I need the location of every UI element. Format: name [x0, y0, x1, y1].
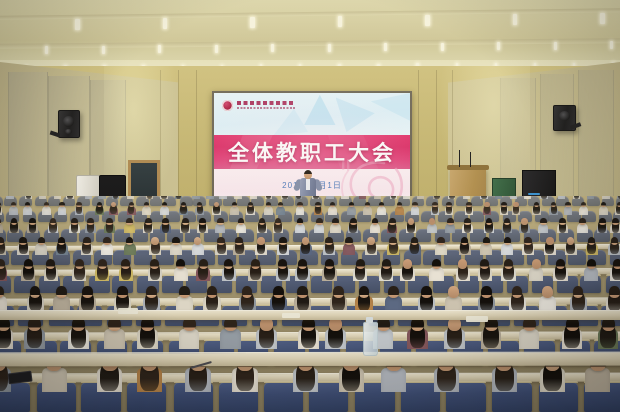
audience-head: [162, 218, 169, 225]
audience-torso: [9, 206, 18, 214]
audience-hair: [481, 196, 487, 199]
audience-head: [556, 259, 565, 269]
audience-head: [207, 286, 218, 298]
audience-head: [76, 202, 81, 208]
audience-head: [297, 218, 304, 225]
audience-head: [199, 259, 208, 269]
audience-head: [408, 218, 415, 225]
audience-head: [50, 218, 57, 225]
audience-member: [343, 237, 355, 257]
audience-head: [56, 286, 67, 298]
audience-member: [565, 237, 577, 257]
audience-member: [276, 202, 285, 216]
presenter-shirt: [306, 179, 310, 190]
audience-head: [59, 202, 64, 208]
audience-member: [192, 196, 200, 200]
audience-torso: [395, 206, 404, 214]
audience-torso: [599, 206, 608, 214]
audience-torso: [510, 196, 517, 199]
audience-torso: [480, 243, 492, 255]
audience-head: [565, 202, 570, 208]
audience-member: [587, 196, 595, 200]
audience-head: [458, 259, 467, 269]
audience-head: [559, 218, 566, 225]
audience-hair: [26, 196, 32, 199]
ceiling-downlight: [384, 43, 387, 51]
audience-member: [295, 259, 310, 283]
audience-head: [611, 237, 619, 245]
microphone-stand: [470, 152, 471, 167]
audience-member: [48, 218, 59, 235]
audience-torso: [429, 267, 443, 281]
audience-head: [297, 286, 308, 298]
audience-torso: [39, 196, 46, 199]
audience-head: [199, 218, 206, 225]
audience-member: [495, 196, 503, 200]
audience-head: [235, 237, 243, 245]
audience-torso: [236, 223, 246, 233]
audience-member: [608, 237, 620, 257]
audience-head: [217, 218, 224, 225]
audience-head: [297, 202, 302, 208]
audience-member: [234, 196, 242, 200]
audience-head: [412, 202, 417, 208]
audience-head: [11, 218, 18, 225]
audience-member: [584, 259, 599, 283]
audience-member: [21, 259, 36, 283]
audience-member: [519, 317, 540, 351]
audience-head: [446, 202, 451, 208]
audience-member: [510, 196, 518, 200]
audience-member: [68, 317, 89, 351]
audience-member: [175, 196, 183, 200]
audience-torso: [192, 243, 204, 255]
audience-head: [372, 218, 379, 225]
audience-member: [519, 218, 530, 235]
audience-torso: [330, 223, 340, 233]
audience-head: [464, 218, 471, 225]
ceiling-downlight: [554, 42, 557, 50]
audience-member: [465, 202, 474, 216]
audience-member: [222, 259, 237, 283]
audience-member: [281, 196, 289, 200]
audience-member: [95, 259, 110, 283]
audience-head: [238, 218, 245, 225]
audience-member: [400, 259, 415, 283]
ceiling-downlight: [75, 19, 80, 30]
audience-torso: [359, 196, 366, 199]
audience-torso: [58, 206, 67, 214]
audience-member: [500, 202, 509, 216]
audience-head: [613, 259, 620, 269]
audience-member: [602, 196, 610, 200]
audience-member: [363, 202, 372, 216]
audience-member: [564, 202, 573, 216]
slide-polygon: [273, 109, 308, 137]
audience-member: [501, 237, 513, 257]
audience-member: [598, 317, 619, 351]
audience-torso: [234, 196, 241, 199]
audience-member: [265, 196, 273, 200]
audience-head: [150, 259, 159, 269]
audience-head: [447, 218, 454, 225]
audience-hair: [541, 196, 547, 199]
audience-member: [127, 202, 136, 216]
audience-member: [597, 218, 608, 235]
audience-member: [562, 317, 583, 351]
audience-head: [612, 218, 619, 225]
audience-head: [275, 218, 282, 225]
audience-head: [172, 237, 180, 245]
audience-member: [532, 202, 541, 216]
audience-head: [30, 286, 41, 298]
audience-member: [246, 202, 255, 216]
audience-hair: [434, 196, 440, 199]
ceiling-downlight: [250, 17, 255, 28]
audience-hair: [574, 196, 580, 199]
audience-member: [195, 202, 204, 216]
audience-member: [42, 202, 51, 216]
audience-member: [322, 259, 337, 283]
audience-torso: [495, 196, 502, 199]
audience-member: [599, 202, 608, 216]
audience-member: [445, 218, 456, 235]
audience-head: [501, 202, 506, 208]
audience-torso: [347, 206, 356, 214]
audience-member: [119, 259, 134, 283]
audience-head: [126, 218, 133, 225]
audience-head: [332, 218, 339, 225]
audience-head: [389, 237, 397, 245]
audience-member: [522, 237, 534, 257]
audience-head: [587, 259, 596, 269]
audience-head: [521, 218, 528, 225]
audience-head: [325, 237, 333, 245]
water-bottle: [363, 322, 378, 356]
audience-member: [85, 196, 93, 200]
audience-member: [9, 202, 18, 216]
audience-member: [411, 202, 420, 216]
audience-head: [532, 259, 541, 269]
audience-member: [112, 196, 120, 200]
audience-torso: [250, 196, 257, 199]
audience-member: [230, 202, 239, 216]
audience-head: [325, 259, 334, 269]
audience-torso: [215, 223, 225, 233]
audience-torso: [579, 206, 588, 214]
bottle-cap: [366, 317, 373, 323]
ceiling-downlight: [102, 46, 105, 54]
audience-torso: [584, 267, 598, 281]
audience-member: [387, 218, 398, 235]
audience-head: [546, 237, 554, 245]
audience-member: [277, 237, 289, 257]
audience-member: [445, 202, 454, 216]
audience-head: [437, 237, 445, 245]
audience-head: [356, 259, 365, 269]
audience-torso: [192, 196, 199, 199]
audience-torso: [524, 196, 531, 199]
audience-head: [524, 237, 532, 245]
audience-torso: [124, 223, 134, 233]
audience-torso: [564, 206, 573, 214]
audience-head: [182, 218, 189, 225]
audience-head: [365, 202, 370, 208]
audience-head: [359, 286, 370, 298]
audience-head: [573, 286, 584, 298]
audience-hair: [282, 196, 288, 199]
audience-member: [0, 317, 14, 351]
ceiling-downlight: [497, 42, 500, 50]
audience-head: [512, 286, 523, 298]
ceiling-downlight: [158, 45, 161, 53]
audience-member: [298, 317, 319, 351]
audience-member: [148, 259, 163, 283]
audience-torso: [42, 206, 51, 214]
microphone-stand: [459, 150, 460, 167]
audience-torso: [529, 267, 543, 281]
audience-member: [143, 218, 154, 235]
audience-member: [557, 218, 568, 235]
audience-member: [406, 218, 417, 235]
audience-torso: [558, 196, 565, 199]
audience-torso: [403, 196, 410, 199]
audience-member: [353, 259, 368, 283]
audience-head: [0, 259, 5, 269]
audience-member: [127, 196, 135, 200]
ceiling-downlight: [328, 44, 331, 52]
audience-head: [46, 259, 55, 269]
audience-member: [444, 317, 465, 351]
audience-torso: [374, 196, 381, 199]
audience-torso: [101, 243, 113, 255]
audience-member: [196, 259, 211, 283]
audience-head: [98, 259, 107, 269]
audience-member: [295, 196, 303, 200]
audience-member: [179, 317, 200, 351]
audience-torso: [328, 206, 337, 214]
audience-head: [146, 286, 157, 298]
left-loudspeaker: [58, 110, 80, 138]
slide-polygon: [336, 97, 375, 132]
audience-torso: [179, 329, 200, 349]
audience-torso: [296, 206, 305, 214]
audience-torso: [326, 196, 333, 199]
audience-member: [236, 218, 247, 235]
audience-member: [459, 237, 471, 257]
audience-torso: [314, 223, 324, 233]
audience-member: [348, 218, 359, 235]
audience-member: [27, 218, 38, 235]
audience-member: [558, 196, 566, 200]
audience-torso: [42, 368, 67, 392]
ceiling-downlight: [425, 15, 430, 26]
audience-head: [403, 259, 412, 269]
audience-hair: [161, 196, 167, 199]
audience-head: [232, 202, 237, 208]
audience-member: [314, 202, 323, 216]
audience-member: [435, 237, 447, 257]
audience-member: [341, 196, 349, 200]
audience-member: [6, 196, 14, 200]
audience-member: [146, 196, 154, 200]
audience-member: [409, 237, 421, 257]
ceiling-downlight: [271, 44, 274, 52]
audience-member: [257, 218, 268, 235]
audience-torso: [98, 196, 105, 199]
audience-head: [429, 218, 436, 225]
audience-head: [117, 286, 128, 298]
audience-member: [431, 202, 440, 216]
audience-head: [316, 218, 323, 225]
foreground-desk: [0, 310, 620, 320]
audience-member: [219, 196, 227, 200]
audience-head: [513, 202, 518, 208]
audience-head: [298, 259, 307, 269]
slide-top-section: [214, 93, 410, 136]
audience-member: [553, 259, 568, 283]
audience-torso: [6, 196, 13, 199]
audience-member: [212, 202, 221, 216]
audience-torso: [538, 223, 548, 233]
audience-member: [610, 259, 620, 283]
audience-head: [609, 286, 620, 298]
audience-head: [129, 202, 134, 208]
audience-member: [75, 202, 84, 216]
audience-torso: [295, 223, 305, 233]
audience-head: [481, 286, 492, 298]
audience-head: [259, 218, 266, 225]
audience-torso: [445, 223, 455, 233]
audience-member: [250, 196, 258, 200]
audience-torso: [276, 206, 285, 214]
audience-member: [160, 202, 169, 216]
audience-torso: [370, 223, 380, 233]
audience-torso: [585, 368, 610, 392]
audience-head: [145, 218, 152, 225]
audience-member: [480, 196, 488, 200]
rack-indicator-light: [528, 193, 540, 195]
audience-member: [54, 196, 62, 200]
audience-head: [19, 237, 27, 245]
audience-head: [151, 237, 159, 245]
audience-member: [160, 218, 171, 235]
audience-member: [0, 259, 7, 283]
speaker-cone-icon: [559, 111, 570, 121]
audience-member: [137, 317, 158, 351]
audience-member: [109, 202, 118, 216]
audience-head: [278, 259, 287, 269]
audience-member: [233, 237, 245, 257]
speaker-cone-icon: [63, 116, 74, 127]
audience-head: [179, 286, 190, 298]
ceiling-downlight: [513, 14, 518, 25]
audience-head: [389, 218, 396, 225]
audience-hair: [313, 196, 319, 199]
audience-head: [388, 286, 399, 298]
audience-member: [407, 317, 428, 351]
audience-torso: [170, 243, 182, 255]
audience-member: [180, 218, 191, 235]
audience-member: [456, 259, 471, 283]
audience-torso: [85, 196, 92, 199]
speaker-tweeter-icon: [65, 129, 72, 134]
papers: [466, 316, 488, 322]
logo-english-text: [237, 107, 295, 109]
audience-member: [206, 196, 214, 200]
audience-torso: [160, 206, 169, 214]
audience-head: [251, 259, 260, 269]
audience-head: [224, 259, 233, 269]
audience-member: [220, 317, 241, 351]
audience-member: [484, 218, 495, 235]
audience-member: [480, 237, 492, 257]
audience-torso: [577, 223, 587, 233]
audience-member: [104, 317, 125, 351]
ceiling-downlight: [610, 41, 613, 49]
audience-head: [567, 237, 575, 245]
audience-head: [194, 237, 202, 245]
audience-member: [390, 196, 398, 200]
audience-head: [579, 218, 586, 225]
audience-member: [540, 196, 548, 200]
audience-member: [149, 237, 161, 257]
audience-head: [266, 202, 271, 208]
audience-head: [350, 218, 357, 225]
slide-heading: 全体教职工大会: [214, 135, 410, 169]
audience-member: [160, 196, 168, 200]
audience-member: [95, 202, 104, 216]
audience-member: [610, 218, 620, 235]
audience-torso: [519, 329, 540, 349]
audience-torso: [230, 206, 239, 214]
audience-member: [377, 202, 386, 216]
audience-member: [330, 218, 341, 235]
audience-head: [367, 237, 375, 245]
audience-torso: [206, 196, 213, 199]
audience-head: [176, 259, 185, 269]
audience-member: [370, 218, 381, 235]
audience-member: [296, 202, 305, 216]
audience-torso: [463, 196, 470, 199]
audience-member: [502, 218, 513, 235]
seat-trim: [334, 274, 355, 277]
audience-hair: [449, 196, 455, 199]
audience-head: [71, 218, 78, 225]
audience-torso: [341, 196, 348, 199]
audience-member: [577, 218, 588, 235]
audience-member: [429, 259, 444, 283]
audience-member: [276, 259, 291, 283]
audience-head: [484, 202, 489, 208]
audience-member: [462, 218, 473, 235]
audience-member: [23, 202, 32, 216]
audience-member: [478, 259, 493, 283]
audience-head: [279, 237, 287, 245]
audience-head: [540, 218, 547, 225]
audience-member: [124, 218, 135, 235]
audience-member: [255, 237, 267, 257]
audience-head: [411, 237, 419, 245]
audience-head: [217, 237, 225, 245]
audience-member: [81, 237, 93, 257]
audience-member: [403, 196, 411, 200]
audience-head: [82, 286, 93, 298]
audience-member: [215, 237, 227, 257]
audience-head: [483, 237, 491, 245]
audience-head: [75, 259, 84, 269]
ceiling-downlight: [600, 13, 605, 24]
